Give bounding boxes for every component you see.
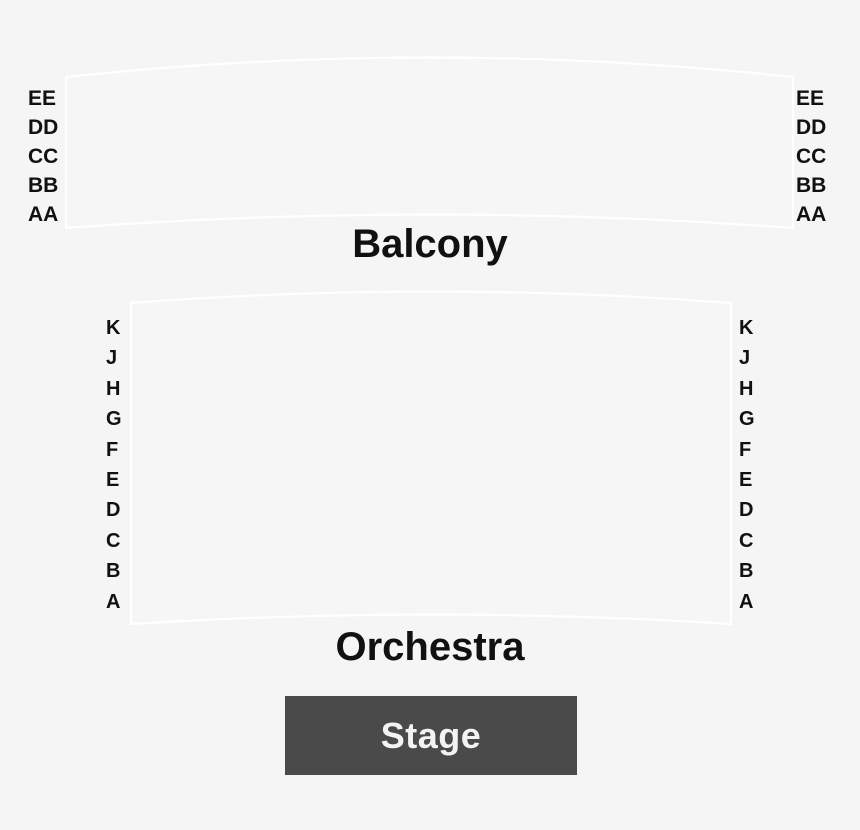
balcony-row-label: BB	[796, 175, 826, 204]
orchestra-section-shape[interactable]	[131, 292, 731, 625]
balcony-section-shape[interactable]	[66, 58, 793, 229]
orchestra-section-label: Orchestra	[0, 625, 860, 670]
balcony-row-label: DD	[28, 117, 58, 146]
orchestra-row-label: A	[106, 592, 120, 622]
balcony-row-label: EE	[28, 88, 56, 117]
orchestra-row-label: G	[106, 409, 122, 439]
orchestra-row-label: J	[106, 348, 117, 378]
orchestra-row-label: D	[739, 500, 753, 530]
orchestra-row-label: B	[739, 561, 753, 591]
balcony-row-label: EE	[796, 88, 824, 117]
orchestra-row-label: K	[106, 318, 120, 348]
orchestra-row-label: F	[739, 440, 751, 470]
orchestra-row-label: K	[739, 318, 753, 348]
orchestra-row-label: B	[106, 561, 120, 591]
orchestra-row-label: E	[739, 470, 752, 500]
balcony-row-labels-left: EE DD CC BB AA	[28, 88, 58, 233]
orchestra-row-label: A	[739, 592, 753, 622]
orchestra-row-label: C	[106, 531, 120, 561]
balcony-row-label: CC	[796, 146, 826, 175]
orchestra-row-labels-right: K J H G F E D C B A	[739, 318, 755, 622]
orchestra-row-label: E	[106, 470, 119, 500]
orchestra-row-label: J	[739, 348, 750, 378]
orchestra-row-label: H	[739, 379, 753, 409]
orchestra-row-label: C	[739, 531, 753, 561]
orchestra-row-label: G	[739, 409, 755, 439]
balcony-section-label: Balcony	[0, 222, 860, 267]
balcony-row-label: BB	[28, 175, 58, 204]
orchestra-row-labels-left: K J H G F E D C B A	[106, 318, 122, 622]
stage-block: Stage	[285, 696, 577, 775]
orchestra-row-label: H	[106, 379, 120, 409]
venue-seating-map: EE DD CC BB AA EE DD CC BB AA Balcony K …	[0, 0, 860, 830]
balcony-row-label: CC	[28, 146, 58, 175]
balcony-row-label: DD	[796, 117, 826, 146]
stage-label: Stage	[381, 715, 482, 757]
balcony-row-labels-right: EE DD CC BB AA	[796, 88, 826, 233]
orchestra-row-label: D	[106, 500, 120, 530]
orchestra-row-label: F	[106, 440, 118, 470]
